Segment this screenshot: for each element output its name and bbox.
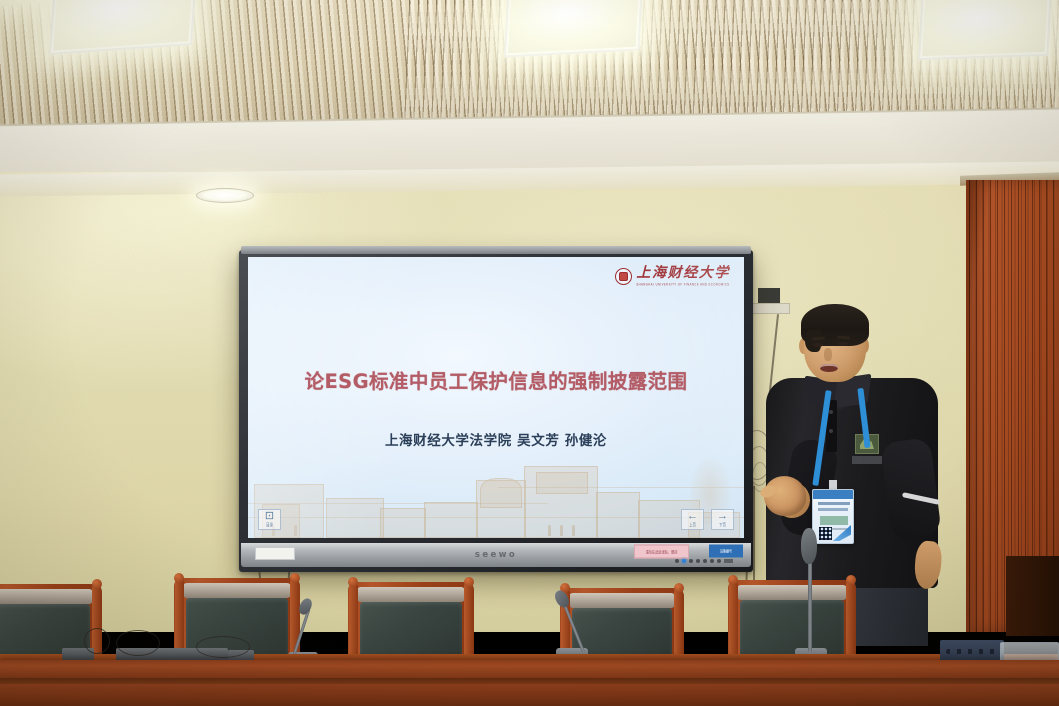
microphone-head: [801, 528, 817, 564]
slide-next-button[interactable]: → 下页: [711, 509, 734, 530]
name-badge: [812, 489, 854, 544]
bezel-sticker: [255, 547, 295, 560]
presenter-mouth: [820, 364, 838, 372]
screen-glare: [248, 257, 465, 538]
slide-prev-caption: 上页: [689, 521, 696, 528]
shirt-button: [829, 410, 833, 414]
conference-chair[interactable]: [348, 582, 474, 662]
slide-subtitle: 上海财经大学法学院 吴文芳 孙健沦: [248, 429, 744, 449]
badge-qr-code: [819, 527, 832, 540]
presenter-eye: [813, 343, 823, 347]
display-bottom-bezel: seewo 请勿在此处张贴、悬挂 设备编号: [241, 543, 751, 567]
presenter-nose: [824, 348, 832, 361]
badge-name-field: [820, 516, 848, 525]
hanging-cable: [753, 486, 755, 594]
badge-line: [818, 508, 848, 511]
slide-title: 论ESG标准中员工保护信息的强制披露范围: [248, 365, 744, 394]
screen-glare: [620, 257, 744, 538]
display-screen[interactable]: 上海财经大学 SHANGHAI UNIVERSITY OF FINANCE AN…: [248, 257, 744, 538]
dark-door-edge: [1006, 556, 1059, 636]
bezel-warning-label: 请勿在此处张贴、悬挂: [634, 544, 689, 558]
display-top-trim: [241, 246, 751, 254]
presenter-eye: [838, 342, 848, 346]
conference-table-top: [0, 660, 1059, 680]
ceiling-panel-light: [504, 0, 643, 57]
interactive-display[interactable]: 上海财经大学 SHANGHAI UNIVERSITY OF FINANCE AN…: [239, 250, 753, 572]
recessed-downlight: [196, 188, 254, 203]
slide-next-caption: 下页: [719, 521, 726, 528]
shirt-chest-text: [852, 456, 882, 464]
conference-table-front: [0, 684, 1059, 706]
bezel-asset-tag: 设备编号: [709, 545, 743, 558]
microphone-stem: [808, 560, 812, 652]
arrow-right-icon: →: [717, 512, 728, 521]
presentation-room-photo: 上海财经大学 SHANGHAI UNIVERSITY OF FINANCE AN…: [0, 0, 1059, 706]
slide-home-button[interactable]: ⊡ 目录: [258, 509, 281, 530]
desk-cable-loop: [116, 630, 160, 656]
slide-prev-button[interactable]: ← 上页: [681, 509, 704, 530]
slide-home-caption: 目录: [266, 521, 273, 528]
desk-cable-loop: [196, 636, 250, 658]
home-icon: ⊡: [265, 512, 274, 521]
presenter-right-hand: [913, 540, 943, 590]
display-brand-logo: seewo: [475, 550, 517, 560]
conference-chair[interactable]: [728, 580, 856, 662]
badge-line: [818, 502, 850, 505]
arrow-left-icon: ←: [687, 512, 698, 521]
shirt-button: [829, 429, 833, 433]
badge-header: [813, 490, 853, 499]
ceiling-panel-light: [918, 0, 1052, 60]
desk-cable-loop: [84, 628, 110, 654]
display-port-row[interactable]: [675, 559, 733, 563]
